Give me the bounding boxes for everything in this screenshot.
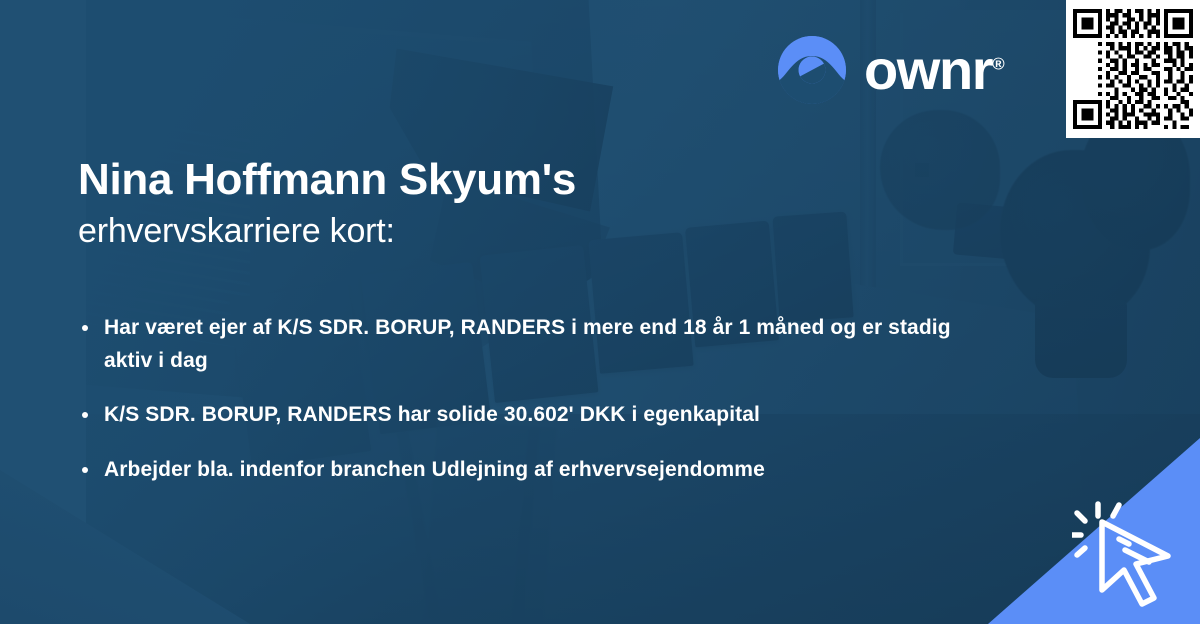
qr-code[interactable] <box>1066 0 1200 138</box>
page-title: Nina Hoffmann Skyum's <box>78 156 576 204</box>
list-item-text: Arbejder bla. indenfor branchen Udlejnin… <box>104 458 765 481</box>
list-item: K/S SDR. BORUP, RANDERS har solide 30.60… <box>78 399 998 432</box>
click-cursor-icon <box>1072 498 1188 610</box>
ownr-logo[interactable]: ownr® <box>776 34 1005 106</box>
ownr-wordmark-text: ownr <box>864 38 992 101</box>
page-subtitle: erhvervskarriere kort: <box>78 211 395 252</box>
registered-trademark-icon: ® <box>992 54 1005 73</box>
list-item-text: K/S SDR. BORUP, RANDERS har solide 30.60… <box>104 403 760 426</box>
qr-code-icon <box>1073 9 1193 129</box>
career-facts-list: Har været ejer af K/S SDR. BORUP, RANDER… <box>78 312 998 486</box>
ownr-business-card-banner: ownr® <box>0 0 1200 624</box>
bullet-dot-icon <box>82 467 88 473</box>
ownr-circle-logo-icon <box>776 34 848 106</box>
ownr-wordmark: ownr® <box>864 42 1005 98</box>
list-item: Arbejder bla. indenfor branchen Udlejnin… <box>78 454 998 487</box>
list-item-text: Har været ejer af K/S SDR. BORUP, RANDER… <box>104 316 951 372</box>
list-item: Har været ejer af K/S SDR. BORUP, RANDER… <box>78 312 998 377</box>
bullet-dot-icon <box>82 412 88 418</box>
bullet-dot-icon <box>82 325 88 331</box>
